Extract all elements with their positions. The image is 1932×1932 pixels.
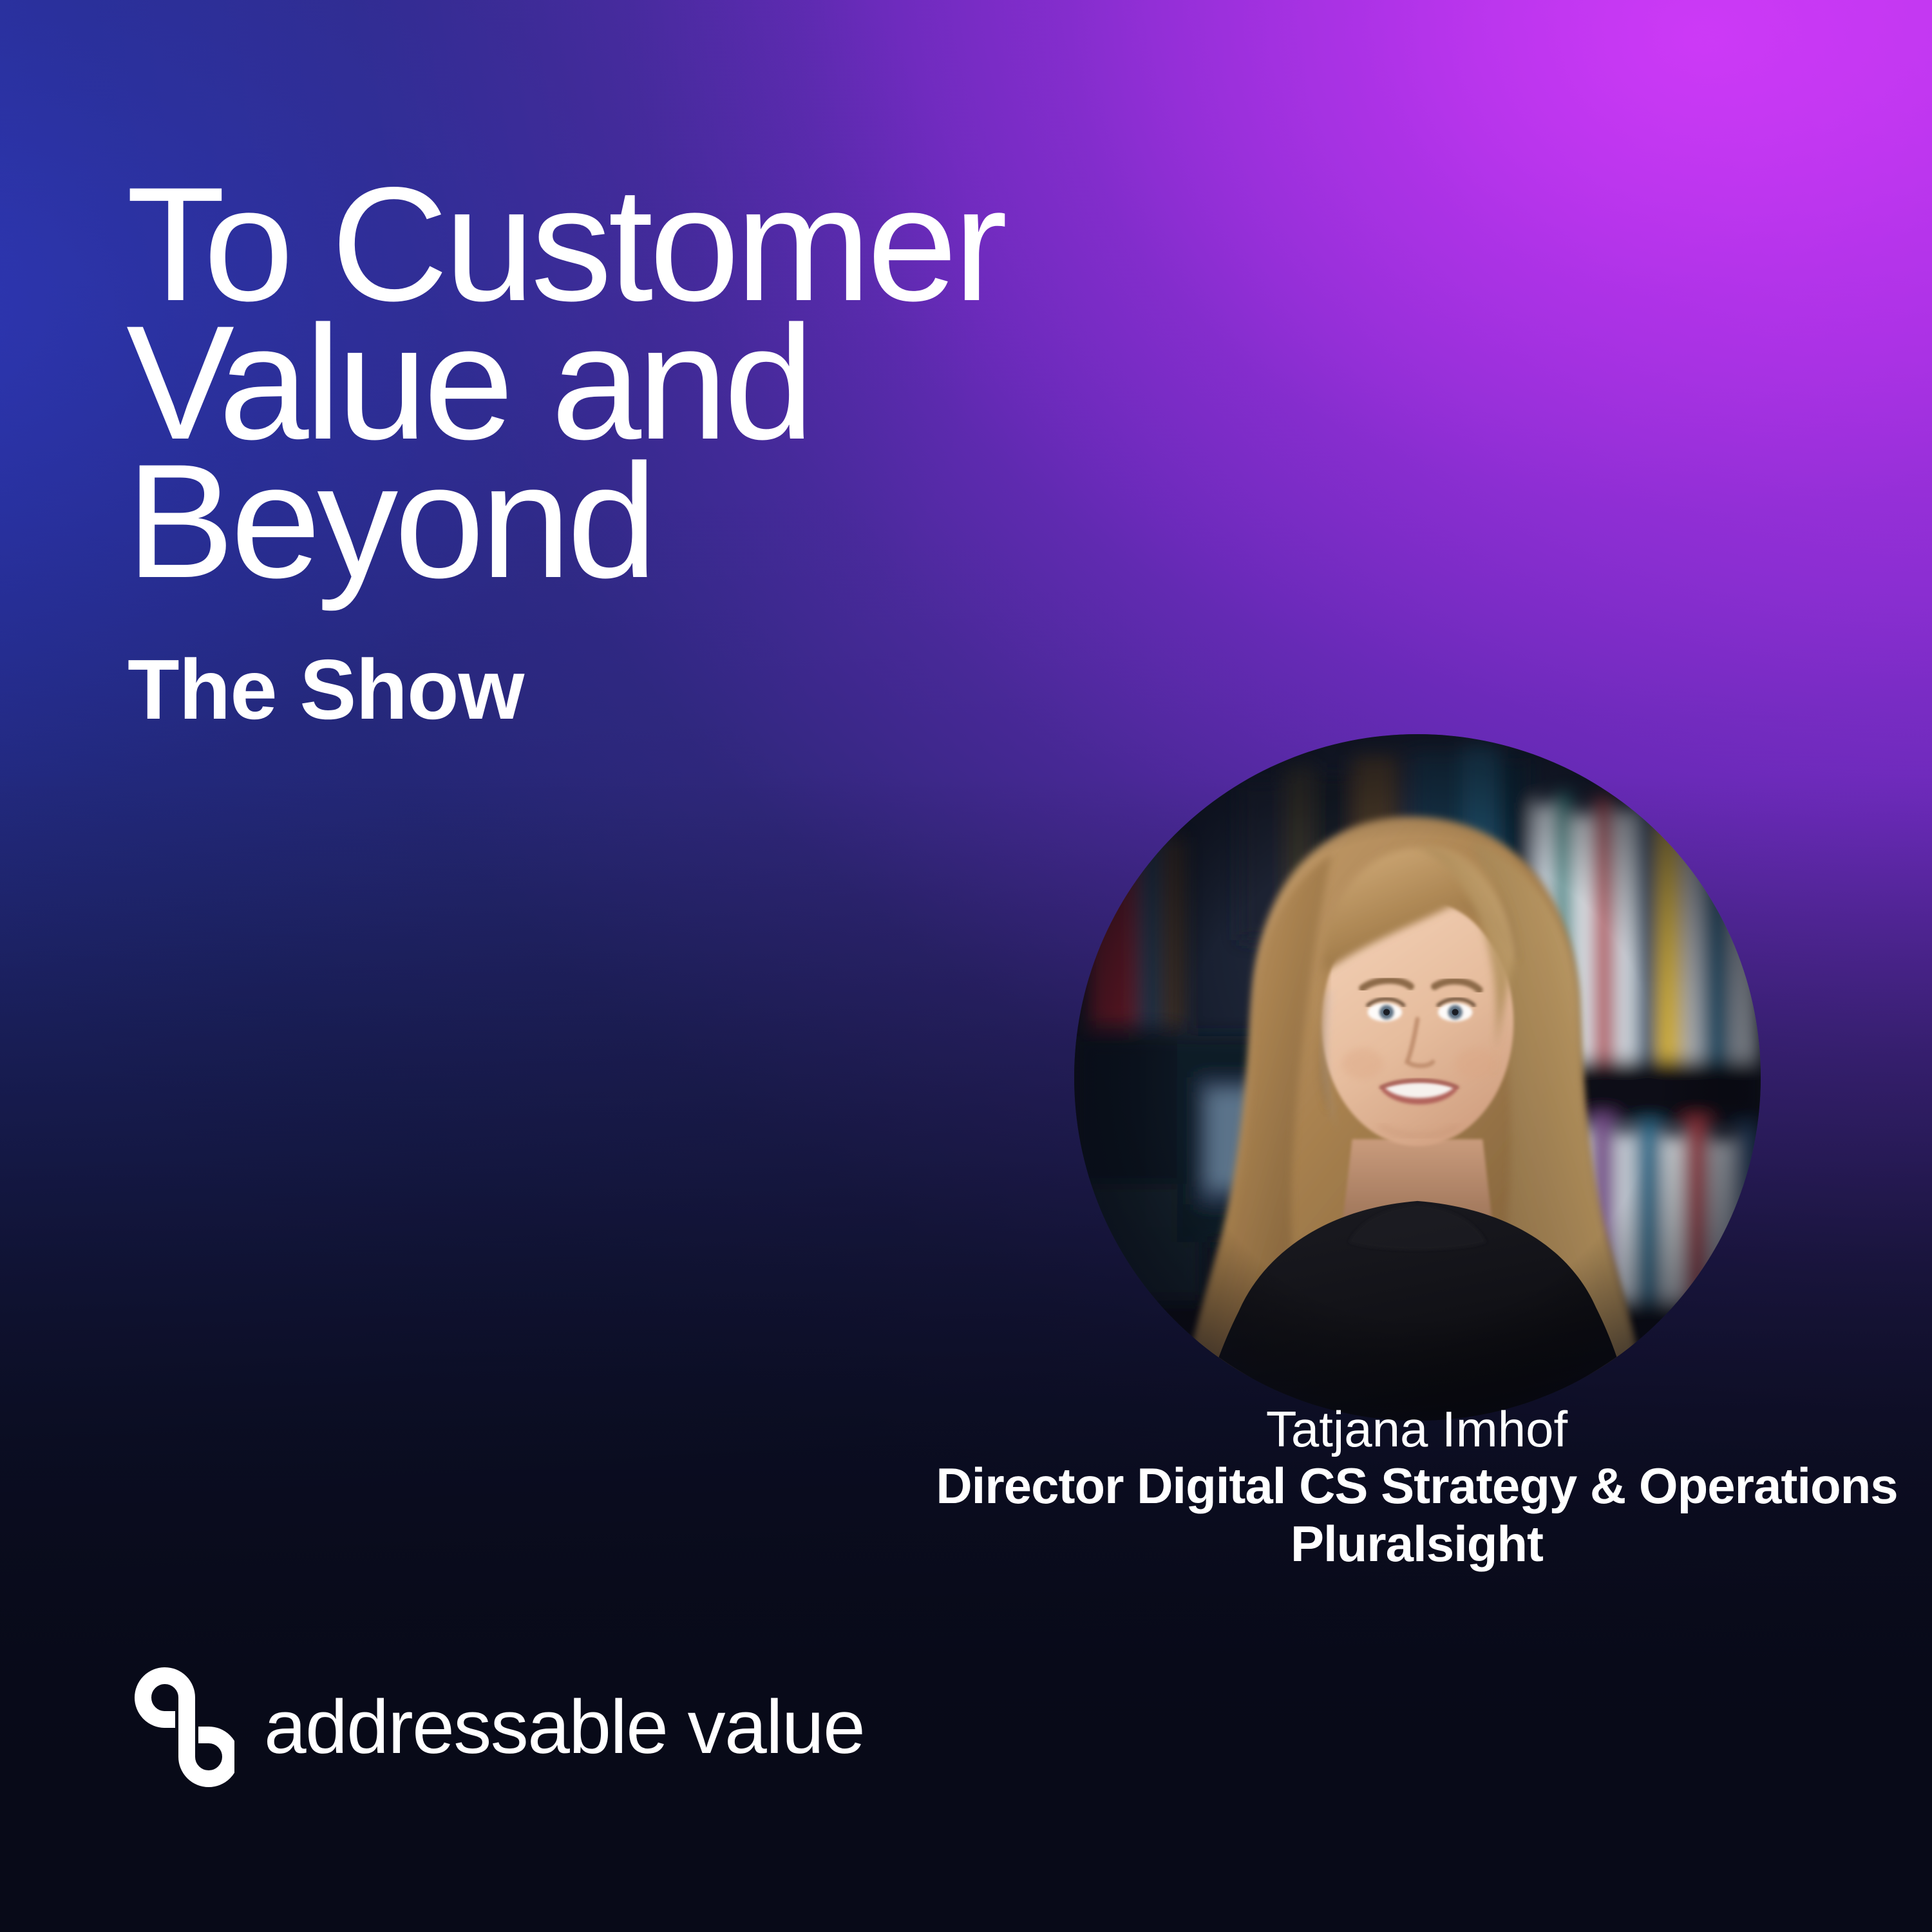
speaker-portrait-avatar bbox=[1074, 734, 1761, 1421]
speaker-name: Tatjana Imhof bbox=[805, 1401, 1932, 1457]
brand-logo: addressable value bbox=[126, 1664, 864, 1790]
speaker-role: Director Digital CS Strategy & Operation… bbox=[805, 1457, 1932, 1515]
speaker-company: Pluralsight bbox=[805, 1515, 1932, 1573]
speaker-caption: Tatjana Imhof Director Digital CS Strate… bbox=[805, 1401, 1932, 1573]
podcast-cover-artwork: To Customer Value and Beyond The Show bbox=[0, 0, 1932, 1932]
portrait-photo bbox=[1074, 734, 1761, 1421]
show-subtitle: The Show bbox=[128, 647, 1479, 732]
show-title-block: To Customer Value and Beyond The Show bbox=[126, 175, 1479, 732]
brand-wordmark: addressable value bbox=[264, 1689, 864, 1765]
addressable-value-infinity-hook-icon bbox=[126, 1664, 234, 1790]
